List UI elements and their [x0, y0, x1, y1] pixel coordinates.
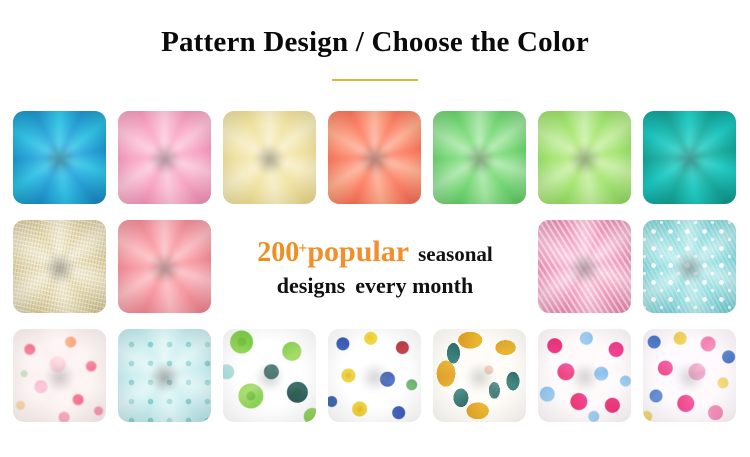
promo-line-1: 200+popularseasonal — [257, 237, 493, 267]
fabric-vignette — [223, 329, 316, 422]
fabric-vignette — [538, 329, 631, 422]
swatch-solid-coral[interactable] — [328, 111, 421, 204]
fabric-vignette — [433, 329, 526, 422]
promo-text-block: 200+popularseasonal designsevery month — [215, 224, 535, 310]
fabric-vignette — [118, 220, 211, 313]
swatch-row-solid-colors — [0, 111, 750, 204]
fabric-vignette — [328, 329, 421, 422]
promo-popular-word: popular — [307, 235, 409, 268]
swatch-solid-rose-pink[interactable] — [118, 220, 211, 313]
fabric-vignette — [13, 111, 106, 204]
swatch-multicolor-abstract-floral[interactable] — [643, 329, 736, 422]
swatch-pink-blue-poppy-floral[interactable] — [538, 329, 631, 422]
fabric-vignette — [328, 111, 421, 204]
swatch-solid-butter-yellow[interactable] — [223, 111, 316, 204]
page-header: Pattern Design / Choose the Color — [0, 0, 750, 96]
page-title: Pattern Design / Choose the Color — [0, 26, 750, 59]
title-divider — [332, 79, 418, 81]
swatch-row-printed-florals — [0, 329, 750, 422]
fabric-vignette — [118, 111, 211, 204]
swatch-solid-pink[interactable] — [118, 111, 211, 204]
swatch-solid-green[interactable] — [433, 111, 526, 204]
promo-line-2: designsevery month — [277, 275, 473, 297]
swatch-green-tropical-floral[interactable] — [223, 329, 316, 422]
swatch-solid-light-green[interactable] — [538, 111, 631, 204]
swatch-solid-teal[interactable] — [643, 111, 736, 204]
fabric-vignette — [13, 329, 106, 422]
swatch-solid-blue[interactable] — [13, 111, 106, 204]
promo-every-month-words: every month — [355, 273, 473, 298]
swatch-aqua-ditsy-floral[interactable] — [643, 220, 736, 313]
swatch-watercolor-pink-floral[interactable] — [13, 329, 106, 422]
fabric-vignette — [118, 329, 211, 422]
promo-designs-word: designs — [277, 273, 345, 298]
promo-seasonal-word: seasonal — [418, 242, 493, 266]
swatch-mustard-leaf-floral[interactable] — [433, 329, 526, 422]
fabric-vignette — [643, 111, 736, 204]
fabric-vignette — [433, 111, 526, 204]
promo-plus-symbol: + — [298, 240, 307, 257]
fabric-vignette — [538, 111, 631, 204]
fabric-vignette — [13, 220, 106, 313]
swatch-heather-oatmeal[interactable] — [13, 220, 106, 313]
fabric-vignette — [538, 220, 631, 313]
fabric-vignette — [643, 329, 736, 422]
swatch-striped-pink[interactable] — [538, 220, 631, 313]
swatch-primary-daisy-floral[interactable] — [328, 329, 421, 422]
fabric-vignette — [223, 111, 316, 204]
swatch-mint-polka-dot[interactable] — [118, 329, 211, 422]
fabric-vignette — [643, 220, 736, 313]
promo-count: 200 — [257, 237, 299, 268]
